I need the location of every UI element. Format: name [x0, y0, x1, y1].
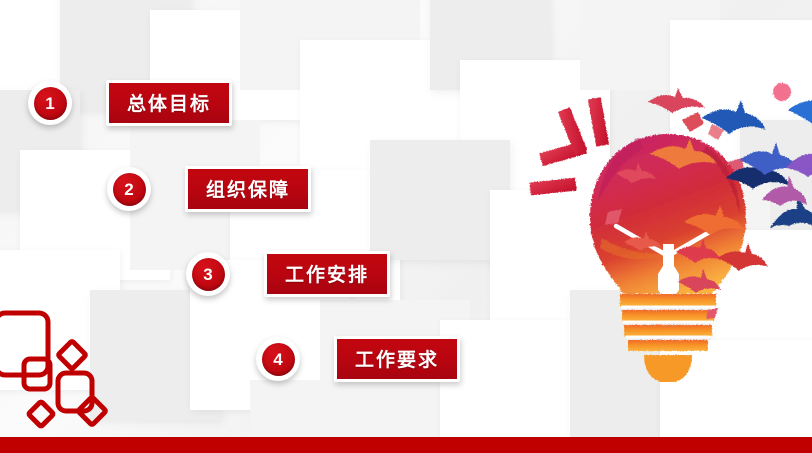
- corner-decoration-svg: [0, 301, 152, 431]
- agenda-label-2: 组织保障: [188, 169, 308, 209]
- slide-canvas: 1 总体目标 2 组织保障 3 工作安排 4 工作要求: [0, 0, 812, 453]
- agenda-number-2: 2: [113, 173, 146, 206]
- agenda-label-3: 工作安排: [267, 254, 387, 294]
- bg-square: [370, 140, 510, 260]
- agenda-label-4: 工作要求: [337, 339, 457, 379]
- deco-diamond-lower: [28, 401, 53, 426]
- bird: [648, 88, 705, 113]
- agenda-label-box-4[interactable]: 工作要求: [334, 336, 460, 382]
- bird-fragment: [706, 308, 718, 319]
- agenda-label-1: 总体目标: [109, 83, 229, 123]
- agenda-badge-2: 2: [107, 167, 151, 211]
- agenda-badge-4: 4: [256, 337, 300, 381]
- agenda-badge-3: 3: [186, 252, 230, 296]
- bird: [788, 90, 812, 128]
- agenda-item-2[interactable]: 2 组织保障: [107, 166, 311, 212]
- bird-dot: [773, 83, 791, 101]
- agenda-number-1: 1: [34, 87, 67, 120]
- watercolor-lightbulb-with-birds-artwork: [520, 42, 812, 382]
- light-rays: [529, 97, 609, 195]
- lightbulb-svg: [520, 42, 812, 382]
- agenda-label-box-1[interactable]: 总体目标: [106, 80, 232, 126]
- bottom-accent-bar: [0, 437, 812, 453]
- agenda-badge-1: 1: [28, 81, 72, 125]
- deco-diamond-upper: [58, 341, 86, 369]
- agenda-number-3: 3: [192, 258, 225, 291]
- agenda-label-box-2[interactable]: 组织保障: [185, 166, 311, 212]
- agenda-number-4: 4: [262, 343, 295, 376]
- agenda-label-box-3[interactable]: 工作安排: [264, 251, 390, 297]
- agenda-item-3[interactable]: 3 工作安排: [186, 251, 390, 297]
- agenda-item-1[interactable]: 1 总体目标: [28, 80, 232, 126]
- corner-decoration: [0, 301, 152, 431]
- agenda-item-4[interactable]: 4 工作要求: [256, 336, 460, 382]
